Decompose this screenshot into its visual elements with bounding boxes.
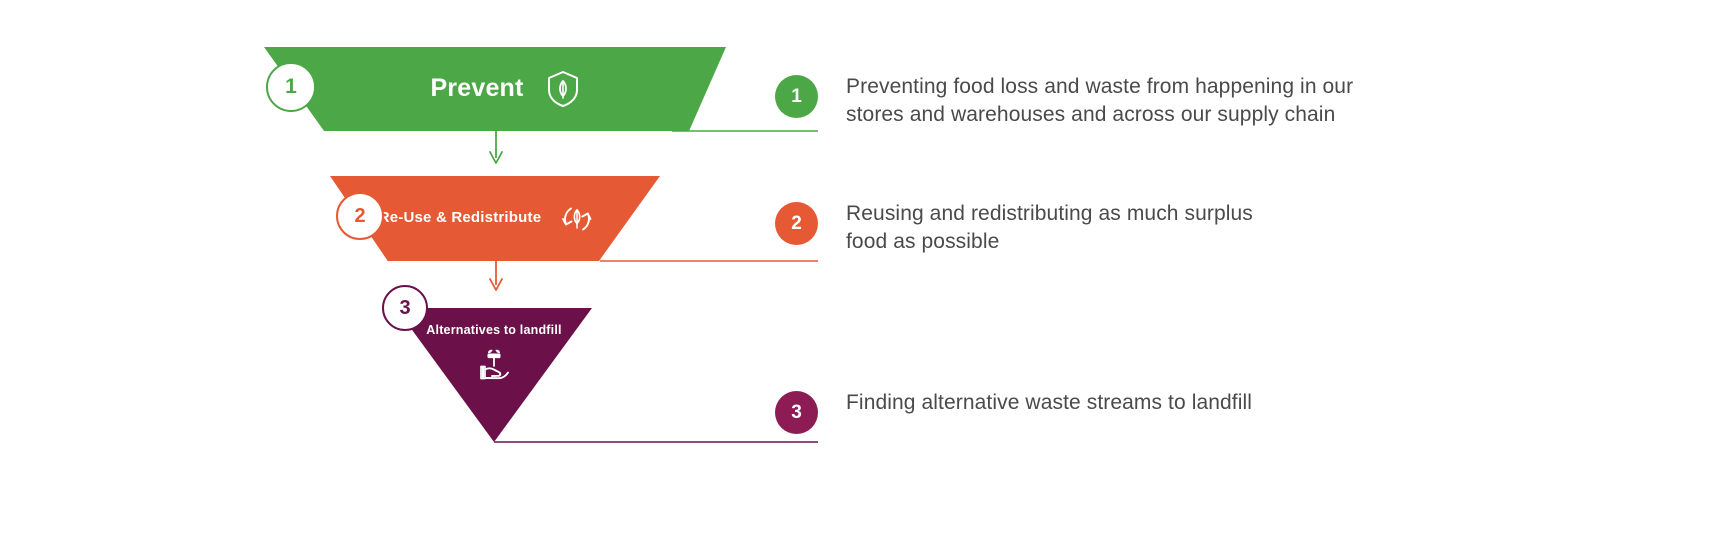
description-badge-1: 1: [775, 75, 818, 118]
stage-3-label: Alternatives to landfill: [426, 323, 561, 339]
stage-3-number: 3: [399, 297, 410, 320]
stage-1-number-circle[interactable]: 1: [266, 62, 316, 112]
description-row-3: 3 Finding alternative waste streams to l…: [775, 389, 1252, 434]
description-text-3: Finding alternative waste streams to lan…: [846, 389, 1252, 417]
description-text-2: Reusing and redistributing as much surpl…: [846, 200, 1253, 255]
stage-3-content: Alternatives to landfill: [426, 323, 561, 384]
stage-1-label: Prevent: [430, 73, 523, 104]
stage-2-number: 2: [354, 205, 365, 228]
recycle-leaf-icon: [559, 200, 595, 238]
description-row-2: 2 Reusing and redistributing as much sur…: [775, 200, 1253, 255]
description-row-1: 1 Preventing food loss and waste from ha…: [775, 73, 1353, 128]
description-number-1: 1: [791, 86, 802, 108]
stage-2-content: Re-Use & Redistribute: [379, 200, 596, 238]
stage-1-content: Prevent: [430, 70, 579, 108]
funnel-stage-prevent[interactable]: Prevent: [264, 47, 726, 131]
stage-1-number: 1: [285, 75, 297, 99]
stage-2-number-circle[interactable]: 2: [336, 192, 384, 240]
description-badge-2: 2: [775, 202, 818, 245]
stage-2-label: Re-Use & Redistribute: [379, 209, 542, 228]
arrow-head-2: [490, 279, 502, 290]
funnel-stage-alternatives[interactable]: Alternatives to landfill: [396, 308, 592, 442]
shield-leaf-icon: [546, 70, 580, 108]
stage-3-number-circle[interactable]: 3: [382, 285, 428, 331]
description-badge-3: 3: [775, 391, 818, 434]
description-text-1: Preventing food loss and waste from happ…: [846, 73, 1353, 128]
description-number-2: 2: [791, 213, 802, 235]
arrow-head-1: [490, 152, 502, 163]
funnel-diagram: Prevent 1 Re-Use & Redistribute: [0, 0, 1720, 540]
description-number-3: 3: [791, 402, 802, 424]
hand-plant-icon: [475, 347, 513, 383]
